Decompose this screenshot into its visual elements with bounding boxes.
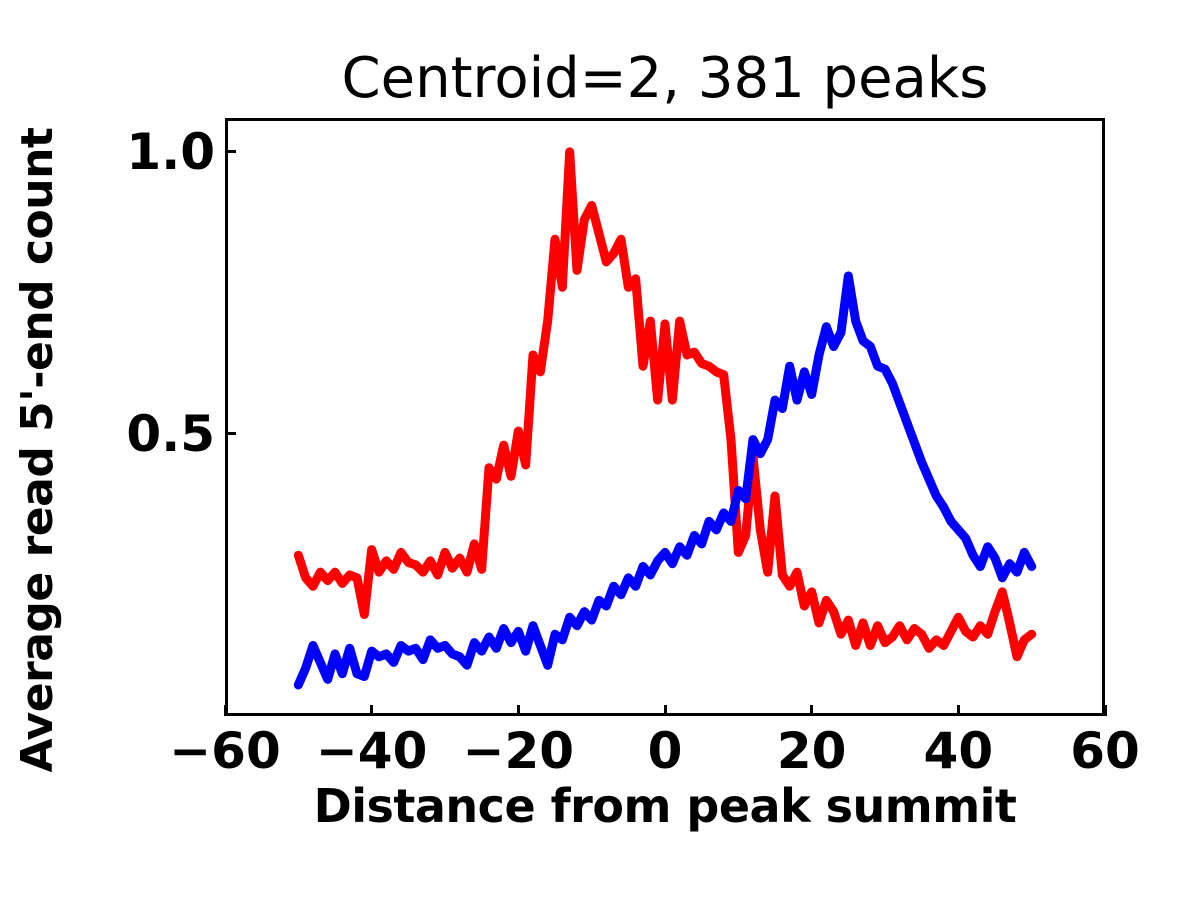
x-tick-mark — [664, 705, 667, 716]
y-axis-label-text: Average read 5'-end count — [12, 128, 63, 773]
x-tick-label: 60 — [1070, 722, 1140, 780]
chart-page: Centroid=2, 381 peaks Average read 5'-en… — [0, 0, 1200, 900]
x-tick-mark — [517, 705, 520, 716]
plot-area — [225, 118, 1105, 716]
x-tick-label: 0 — [648, 722, 683, 780]
x-tick-label: 20 — [777, 722, 847, 780]
y-tick-mark — [225, 150, 236, 153]
x-axis-label: Distance from peak summit — [225, 779, 1105, 833]
chart-title: Centroid=2, 381 peaks — [225, 48, 1105, 110]
y-tick-label: 1.0 — [100, 123, 215, 181]
y-axis-label: Average read 5'-end count — [0, 0, 74, 900]
x-tick-mark — [224, 705, 227, 716]
x-tick-label: 40 — [924, 722, 994, 780]
y-tick-label: 0.5 — [100, 405, 215, 463]
x-tick-mark — [957, 705, 960, 716]
x-tick-label: −40 — [316, 722, 427, 780]
red-data-line — [298, 152, 1031, 657]
x-tick-mark — [1104, 705, 1107, 716]
y-tick-mark — [225, 432, 236, 435]
x-tick-mark — [370, 705, 373, 716]
x-tick-label: −60 — [169, 722, 280, 780]
x-tick-label: −20 — [463, 722, 574, 780]
x-tick-mark — [810, 705, 813, 716]
